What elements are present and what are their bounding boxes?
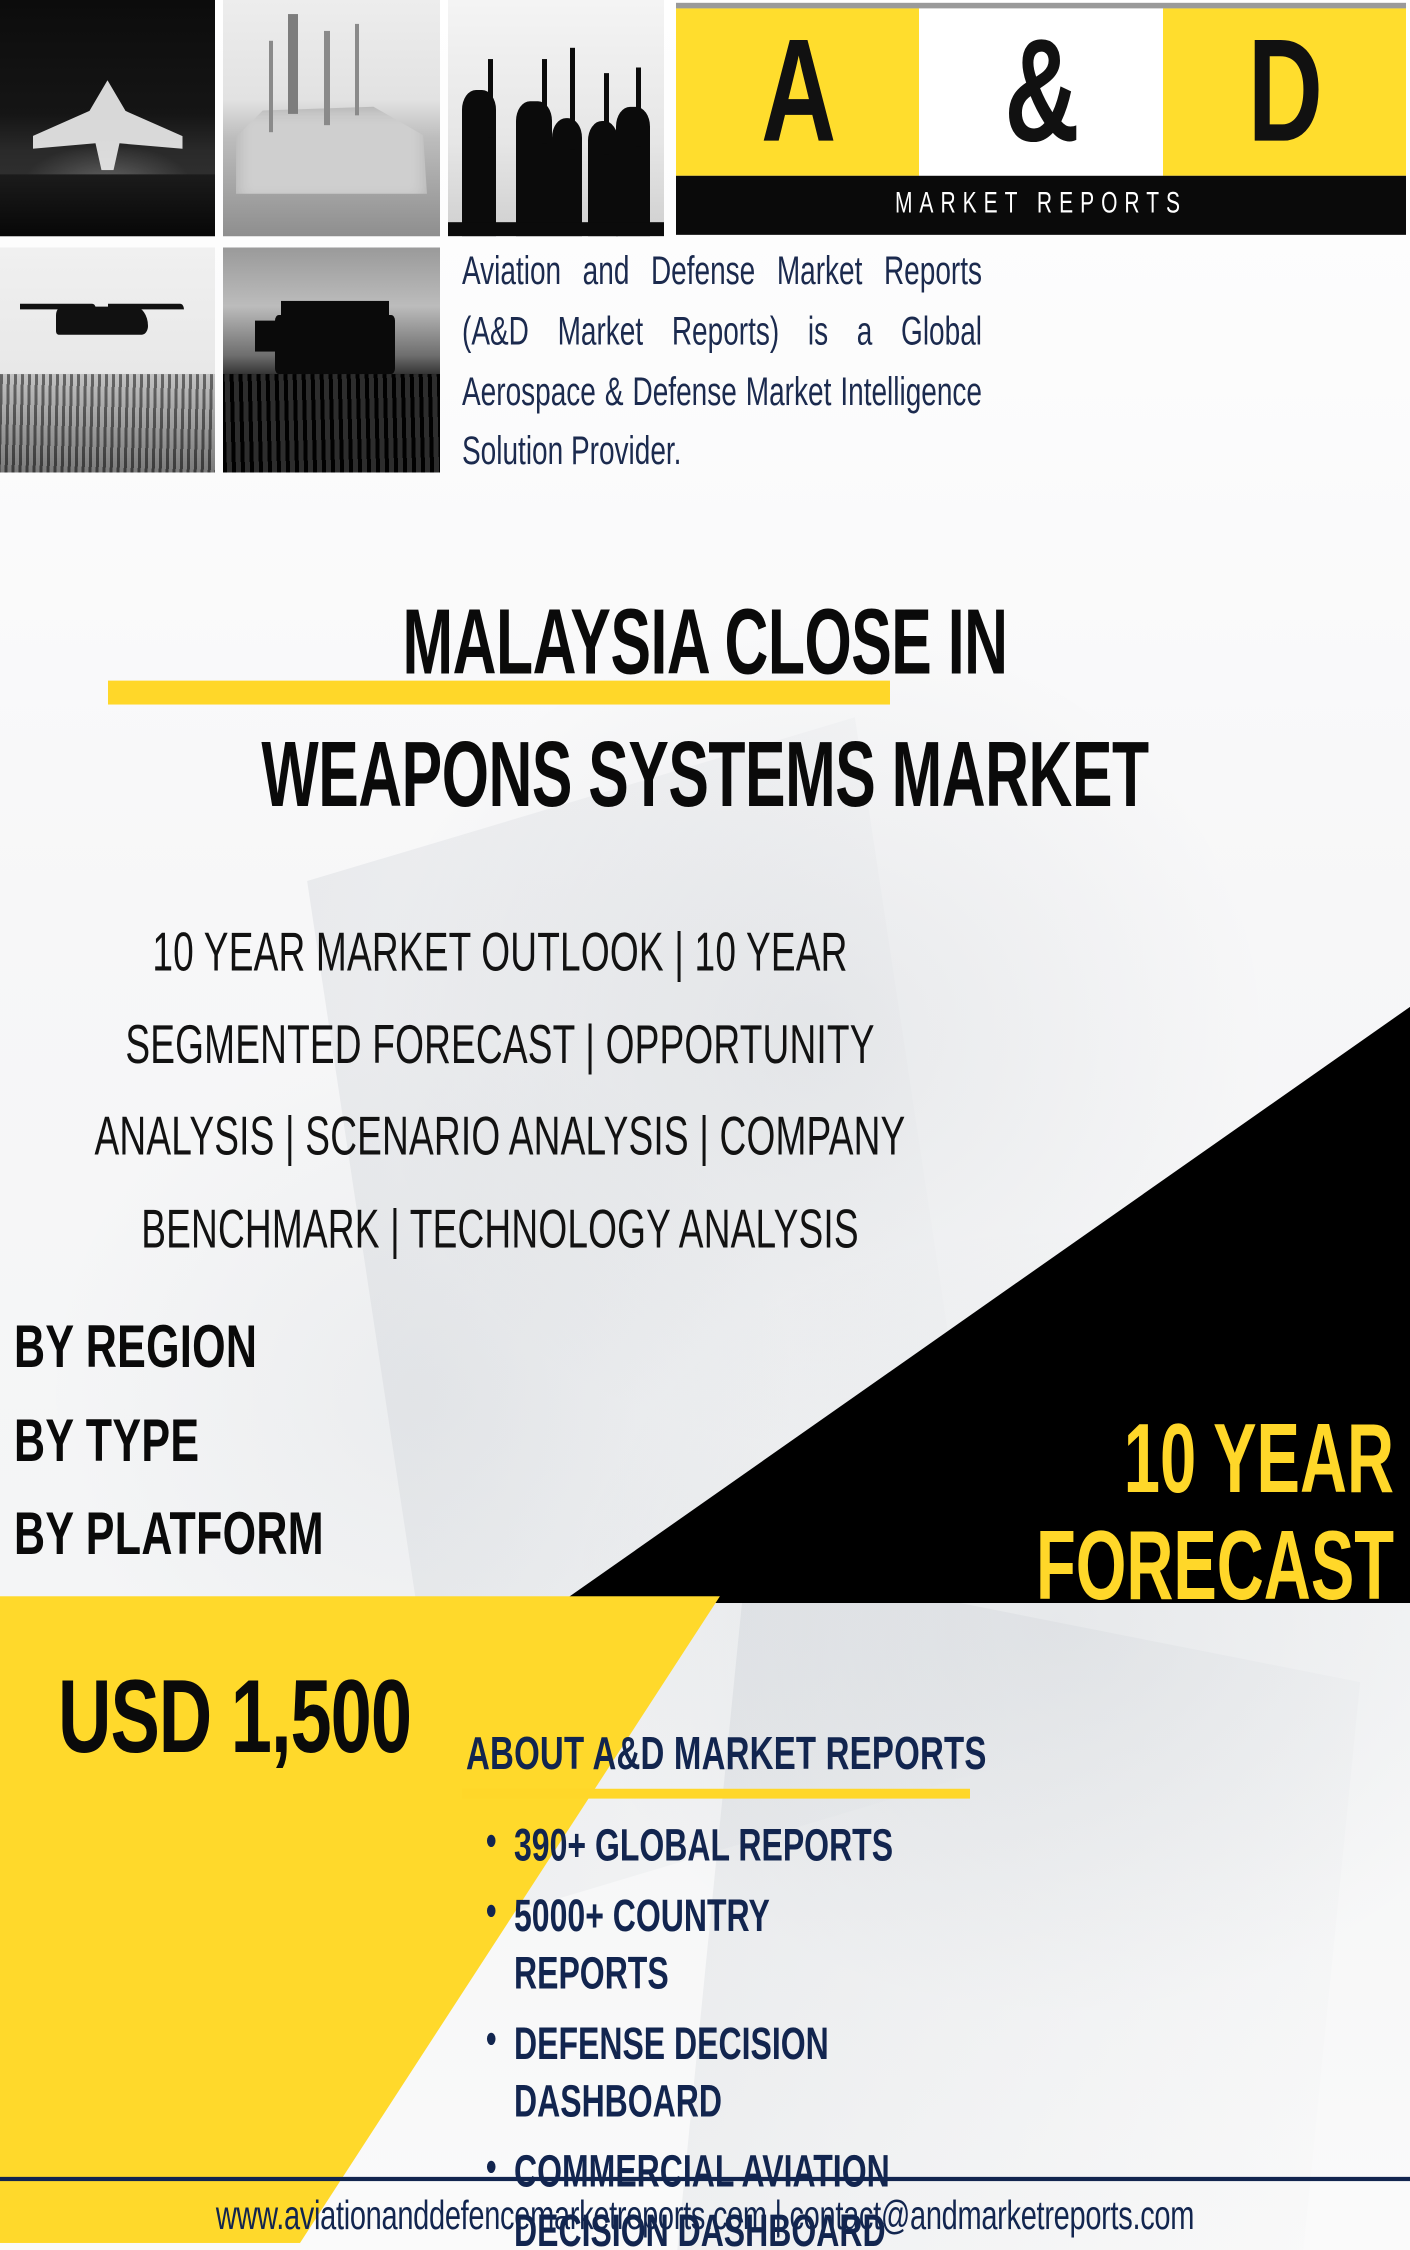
segmentation-list: BY REGION BY TYPE BY PLATFORM (14, 1301, 324, 1582)
photo-row-second (0, 248, 440, 473)
brand-logo[interactable]: A & D MARKET REPORTS (676, 3, 1406, 217)
forecast-badge: 10 YEAR FORECAST (743, 1406, 1394, 1619)
soldiers-silhouette-photo (448, 0, 664, 236)
fighter-jet-photo (0, 0, 215, 236)
about-bullet-item: DEFENSE DECISION DASHBOARD (480, 2015, 930, 2132)
company-intro-paragraph: Aviation and Defense Market Reports (A&D… (462, 242, 982, 483)
footer-contact[interactable]: www.aviationanddefencemarketreports.com … (0, 2194, 1410, 2240)
logo-letter-a: A (676, 8, 919, 175)
report-features-subtitle: 10 YEAR MARKET OUTLOOK | 10 YEAR SEGMENT… (54, 907, 947, 1276)
logo-tagline: MARKET REPORTS (676, 176, 1406, 235)
title-divider-bar (108, 681, 890, 705)
about-bullet-item: 5000+ COUNTRY REPORTS (480, 1887, 930, 2004)
logo-letters: A & D (676, 8, 1406, 175)
aircraft-carrier-photo (223, 0, 440, 236)
forecast-badge-line1: 10 YEAR (1124, 1403, 1394, 1513)
page-title-line1: MALAYSIA CLOSE IN (56, 588, 1353, 695)
about-bullet-list: 390+ GLOBAL REPORTS 5000+ COUNTRY REPORT… (480, 1817, 930, 2250)
about-section-title: ABOUT A&D MARKET REPORTS (466, 1727, 987, 1780)
photo-row-top (0, 0, 664, 236)
segment-item-type: BY TYPE (14, 1394, 324, 1488)
price-value: USD 1,500 (58, 1657, 411, 1777)
footer-divider (0, 2177, 1410, 2181)
logo-ampersand: & (919, 8, 1162, 175)
segment-item-platform: BY PLATFORM (14, 1488, 324, 1582)
armored-vehicle-photo (223, 248, 440, 473)
page-title-line2: WEAPONS SYSTEMS MARKET (56, 720, 1353, 827)
logo-letter-d: D (1163, 8, 1406, 175)
segment-item-region: BY REGION (14, 1301, 324, 1395)
about-bullet-item: 390+ GLOBAL REPORTS (480, 1817, 930, 1875)
helicopter-photo (0, 248, 215, 473)
about-title-underline (462, 1789, 970, 1799)
poster-root: A & D MARKET REPORTS Aviation and Defens… (0, 0, 1410, 2250)
forecast-badge-line2: FORECAST (1036, 1510, 1394, 1620)
